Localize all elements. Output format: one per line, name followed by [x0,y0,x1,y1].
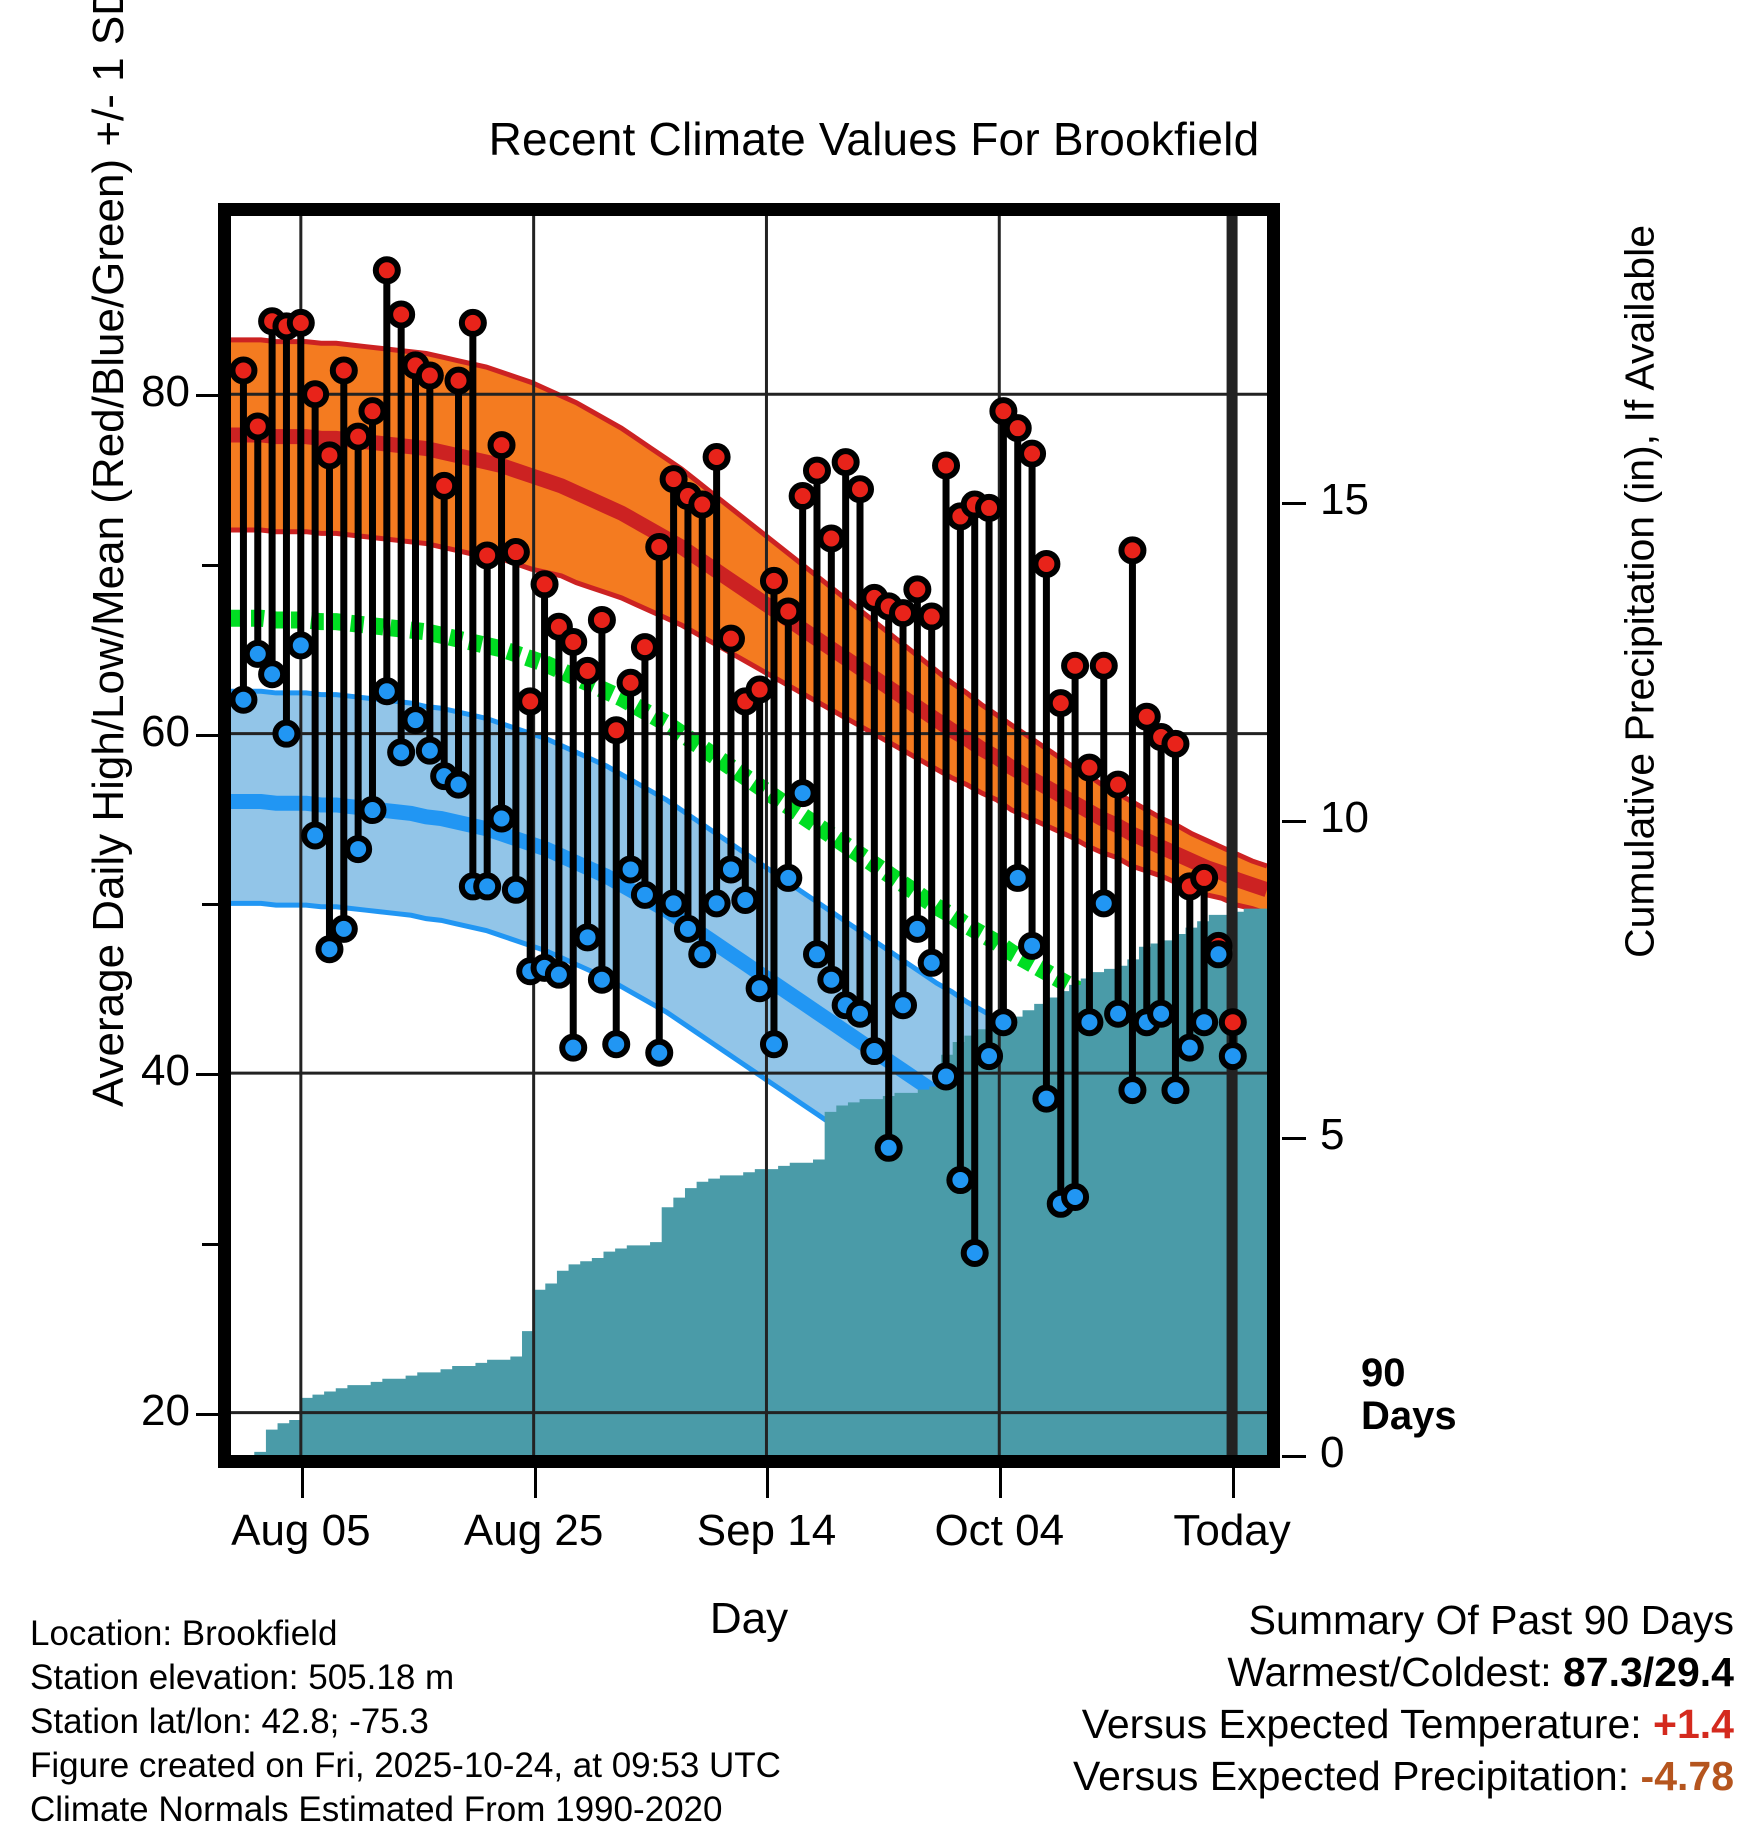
y-axis-title-right: Cumulative Precipitation (in), If Availa… [1619,42,1662,1142]
observed-low-marker [691,943,713,965]
observed-low-marker [232,689,254,711]
observed-low-marker [247,643,269,665]
observed-low-marker [964,1242,986,1264]
observed-low-marker [734,889,756,911]
observed-high-marker [462,312,484,334]
y-axis-tick [196,1073,220,1076]
today-annotation-line2: Days [1361,1395,1491,1438]
observed-low-marker [376,680,398,702]
station-elevation: Station elevation: 505.18 m [30,1656,850,1700]
observed-high-marker [347,426,369,448]
observed-low-marker [290,634,312,656]
observed-low-marker [1007,867,1029,889]
observed-low-marker [648,1042,670,1064]
observed-low-marker [1093,892,1115,914]
chart-svg [231,216,1267,1455]
observed-low-marker [863,1040,885,1062]
today-annotation: 90 Days [1361,1352,1491,1438]
observed-high-marker [1050,692,1072,714]
x-axis-tick [1232,1468,1235,1498]
observed-high-marker [390,303,412,325]
observed-low-marker [304,825,326,847]
observed-low-marker [634,884,656,906]
observed-low-marker [505,879,527,901]
observed-low-marker [620,858,642,880]
summary-title: Summary Of Past 90 Days [754,1594,1734,1646]
observed-high-marker [1164,733,1186,755]
observed-low-marker [777,867,799,889]
summary-block: Summary Of Past 90 Days Warmest/Coldest:… [754,1594,1734,1802]
observed-low-marker [605,1033,627,1055]
observed-low-marker [333,918,355,940]
y-axis-right-tick-label: 15 [1320,478,1430,522]
observed-low-marker [1021,935,1043,957]
station-latlon: Station lat/lon: 42.8; -75.3 [30,1700,850,1744]
observed-high-marker [491,434,513,456]
observed-high-marker [1107,774,1129,796]
observed-low-marker [1121,1079,1143,1101]
y-axis-right-tick [1282,1137,1306,1140]
y-axis-minor-tick [202,1243,220,1246]
observed-low-marker [1064,1186,1086,1208]
observed-high-marker [591,609,613,631]
y-axis-minor-tick [202,564,220,567]
y-axis-right-tick-label: 5 [1320,1113,1430,1157]
y-axis-tick [196,394,220,397]
observed-high-marker [648,536,670,558]
station-location: Location: Brookfield [30,1612,850,1656]
warmest-coldest-value: 87.3/29.4 [1563,1649,1734,1695]
observed-low-marker [404,709,426,731]
observed-low-marker [261,663,283,685]
observed-low-marker [1222,1045,1244,1067]
observed-high-marker [448,370,470,392]
observed-low-marker [677,918,699,940]
y-axis-right-tick [1282,502,1306,505]
observed-high-marker [1136,706,1158,728]
chart-plot-area [231,216,1267,1455]
observed-low-marker [935,1066,957,1088]
observed-high-marker [1222,1011,1244,1033]
y-axis-right-tick [1282,1455,1306,1458]
vs-prcp-label: Versus Expected Precipitation: [1073,1753,1629,1799]
observed-low-marker [663,892,685,914]
observed-low-marker [448,774,470,796]
observed-high-marker [232,359,254,381]
observed-high-marker [577,660,599,682]
x-axis-tick-label: Today [1082,1508,1382,1554]
observed-high-marker [1093,655,1115,677]
station-info-block: Location: Brookfield Station elevation: … [30,1612,850,1832]
y-axis-tick [196,1413,220,1416]
observed-high-marker [419,365,441,387]
observed-high-marker [333,359,355,381]
summary-warmest-coldest: Warmest/Coldest: 87.3/29.4 [754,1646,1734,1698]
observed-high-marker [892,602,914,624]
observed-low-marker [849,1003,871,1025]
observed-low-marker [892,994,914,1016]
chart-plot-frame [218,203,1280,1468]
observed-high-marker [777,600,799,622]
figure-created: Figure created on Fri, 2025-10-24, at 09… [30,1744,850,1788]
observed-low-marker [1193,1011,1215,1033]
observed-high-marker [820,527,842,549]
observed-high-marker [620,672,642,694]
observed-high-marker [849,478,871,500]
y-axis-tick [196,734,220,737]
observed-high-marker [792,485,814,507]
observed-low-marker [548,964,570,986]
observed-high-marker [505,541,527,563]
observed-high-marker [1035,553,1057,575]
vs-prcp-value: -4.78 [1641,1753,1734,1799]
warmest-coldest-label: Warmest/Coldest: [1227,1649,1551,1695]
observed-high-marker [720,628,742,650]
y-axis-right-tick [1282,820,1306,823]
observed-low-marker [992,1011,1014,1033]
observed-high-marker [763,570,785,592]
observed-low-marker [792,782,814,804]
summary-vs-temp: Versus Expected Temperature: +1.4 [754,1698,1734,1750]
observed-high-marker [562,631,584,653]
observed-low-marker [1107,1003,1129,1025]
observed-high-marker [1078,757,1100,779]
observed-high-marker [318,444,340,466]
observed-high-marker [1021,443,1043,465]
observed-low-marker [318,938,340,960]
observed-high-marker [1193,867,1215,889]
page-title: Recent Climate Values For Brookfield [0,112,1748,166]
observed-high-marker [1121,539,1143,561]
observed-high-marker [605,719,627,741]
y-axis-right-tick-label: 10 [1320,796,1430,840]
observed-high-marker [304,383,326,405]
observed-low-marker [1035,1088,1057,1110]
observed-low-marker [949,1169,971,1191]
y-axis-title: Average Daily High/Low/Mean (Red/Blue/Gr… [86,7,132,1107]
observed-low-marker [749,977,771,999]
observed-low-marker [1150,1003,1172,1025]
observed-high-marker [1007,417,1029,439]
observed-high-marker [247,415,269,437]
observed-low-marker [390,741,412,763]
observed-low-marker [763,1033,785,1055]
observed-high-marker [376,259,398,281]
observed-low-marker [476,875,498,897]
observed-high-marker [691,494,713,516]
y-axis-minor-tick [202,903,220,906]
observed-high-marker [433,475,455,497]
observed-low-marker [1179,1037,1201,1059]
observed-high-marker [361,400,383,422]
climate-normals: Climate Normals Estimated From 1990-2020 [30,1788,850,1832]
observed-low-marker [706,892,728,914]
observed-high-marker [806,460,828,482]
observed-high-marker [634,636,656,658]
today-annotation-line1: 90 [1361,1352,1491,1395]
observed-low-marker [562,1037,584,1059]
observed-high-marker [1064,655,1086,677]
observed-high-marker [935,454,957,476]
observed-low-marker [591,969,613,991]
x-axis-tick [301,1468,304,1498]
y-axis-tick-label: 20 [60,1389,190,1433]
observed-high-marker [906,578,928,600]
observed-low-marker [806,943,828,965]
observed-low-marker [491,808,513,830]
x-axis-tick [999,1468,1002,1498]
observed-low-marker [978,1045,1000,1067]
x-axis-tick [766,1468,769,1498]
observed-low-marker [906,918,928,940]
observed-low-marker [1078,1011,1100,1033]
observed-high-marker [835,451,857,473]
observed-low-marker [1207,943,1229,965]
observed-low-marker [720,858,742,880]
observed-low-marker [820,969,842,991]
observed-high-marker [476,544,498,566]
observed-high-marker [978,497,1000,519]
observed-low-marker [921,952,943,974]
observed-high-marker [534,573,556,595]
observed-high-marker [706,446,728,468]
observed-high-marker [921,606,943,628]
vs-temp-value: +1.4 [1653,1701,1734,1747]
observed-low-marker [878,1137,900,1159]
observed-low-marker [347,838,369,860]
x-axis-tick [534,1468,537,1498]
observed-low-marker [577,926,599,948]
observed-high-marker [749,679,771,701]
observed-low-marker [361,799,383,821]
observed-high-marker [519,690,541,712]
observed-high-marker [290,312,312,334]
vs-temp-label: Versus Expected Temperature: [1082,1701,1642,1747]
observed-low-marker [419,740,441,762]
observed-low-marker [275,723,297,745]
observed-low-marker [1164,1079,1186,1101]
summary-vs-prcp: Versus Expected Precipitation: -4.78 [754,1750,1734,1802]
